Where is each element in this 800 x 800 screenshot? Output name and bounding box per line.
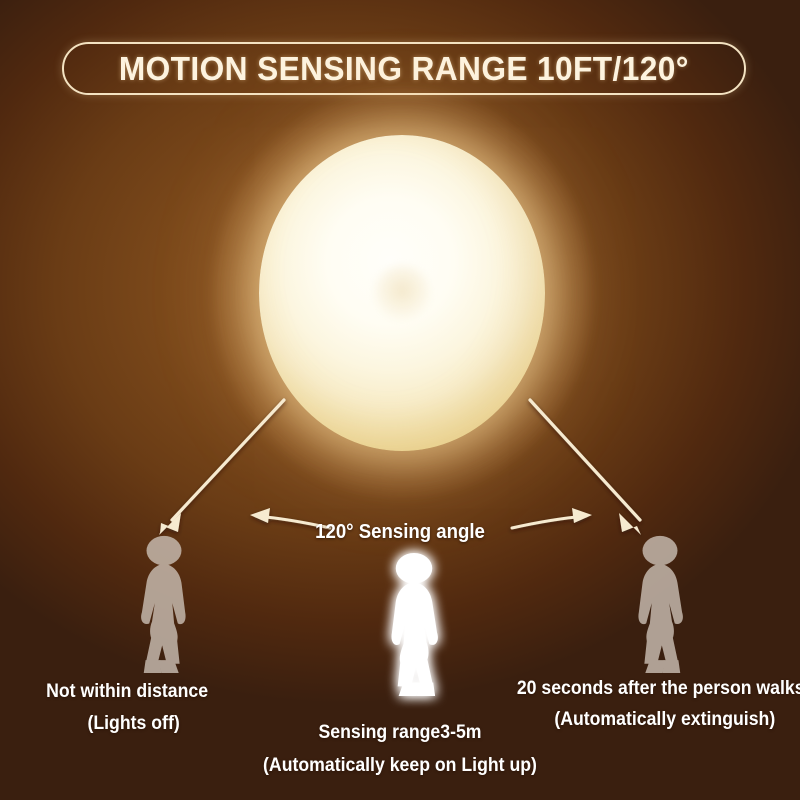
left-caption-line-1: Not within distance [46,681,208,703]
right-caption-line-2: (Automatically extinguish) [554,709,775,731]
person-in-range-figure [391,553,437,696]
arrow-angle-right [512,508,592,528]
person-out-of-range-figure [141,536,185,673]
person-walking-away-figure [638,536,682,673]
center-caption-line-2: (Automatically keep on Light up) [263,755,537,777]
left-caption-line-2: (Lights off) [87,713,179,735]
right-caption-line-1: 20 seconds after the person walks [517,678,800,700]
sensing-angle-label: 120° Sensing angle [315,521,485,544]
product-infographic: MOTION SENSING RANGE 10FT/120° [0,0,800,800]
center-caption-line-1: Sensing range3-5m [318,722,481,744]
